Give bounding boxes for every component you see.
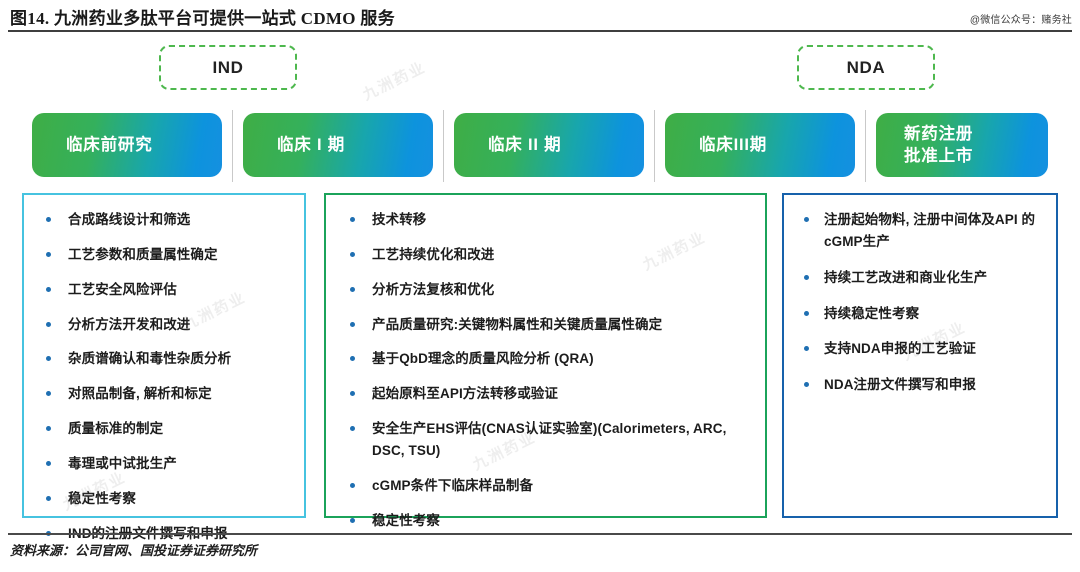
watermark-diagonal: 九洲药业: [359, 56, 429, 105]
milestone-label-nda: NDA: [847, 58, 886, 78]
content-list-preclinical: 合成路线设计和筛选 工艺参数和质量属性确定 工艺安全风险评估 分析方法开发和改进…: [24, 195, 304, 545]
phase-divider-4: [865, 110, 866, 182]
header-divider: [8, 30, 1072, 32]
list-item: 持续稳定性考察: [794, 303, 1048, 325]
list-item: 安全生产EHS评估(CNAS认证实验室)(Calorimeters, ARC, …: [336, 418, 757, 462]
list-item: 持续工艺改进和商业化生产: [794, 267, 1048, 289]
phase-label-phase2: 临床 II 期: [488, 134, 561, 156]
phase-label-preclinical: 临床前研究: [66, 134, 153, 156]
list-item: 杂质谱确认和毒性杂质分析: [34, 348, 296, 370]
phase-bar-phase2: 临床 II 期: [454, 113, 644, 177]
source-note: 资料来源：公司官网、国投证券证券研究所: [10, 540, 257, 559]
phase-label-nda-approval-line2: 批准上市: [904, 147, 973, 165]
phase-divider-1: [232, 110, 233, 182]
list-item: 稳定性考察: [336, 510, 757, 532]
list-item: 工艺安全风险评估: [34, 279, 296, 301]
content-list-registration: 注册起始物料, 注册中间体及API 的cGMP生产 持续工艺改进和商业化生产 持…: [784, 195, 1056, 396]
watermark-top-right: @微信公众号：赌务社: [970, 11, 1072, 26]
list-item: 工艺参数和质量属性确定: [34, 244, 296, 266]
milestone-pill-ind: IND: [159, 45, 297, 90]
content-list-clinical: 技术转移 工艺持续优化和改进 分析方法复核和优化 产品质量研究:关键物料属性和关…: [326, 195, 765, 532]
list-item: 对照品制备, 解析和标定: [34, 383, 296, 405]
milestone-label-ind: IND: [212, 58, 243, 78]
phase-divider-3: [654, 110, 655, 182]
phase-divider-2: [443, 110, 444, 182]
list-item: 分析方法开发和改进: [34, 314, 296, 336]
list-item: 起始原料至API方法转移或验证: [336, 383, 757, 405]
header: 图14. 九洲药业多肽平台可提供一站式 CDMO 服务 @微信公众号：赌务社: [0, 0, 1080, 32]
phase-bar-phase3: 临床III期: [665, 113, 855, 177]
footer-divider: [8, 533, 1072, 535]
phase-bar-nda-approval: 新药注册 批准上市: [876, 113, 1048, 177]
list-item: 基于QbD理念的质量风险分析 (QRA): [336, 348, 757, 370]
page-title: 图14. 九洲药业多肽平台可提供一站式 CDMO 服务: [10, 4, 395, 29]
list-item: 产品质量研究:关键物料属性和关键质量属性确定: [336, 314, 757, 336]
content-box-preclinical: 合成路线设计和筛选 工艺参数和质量属性确定 工艺安全风险评估 分析方法开发和改进…: [22, 193, 306, 518]
content-box-clinical: 技术转移 工艺持续优化和改进 分析方法复核和优化 产品质量研究:关键物料属性和关…: [324, 193, 767, 518]
phase-bar-row: 临床前研究 临床 I 期 临床 II 期 临床III期 新药注册 批准上市: [0, 113, 1080, 179]
list-item: cGMP条件下临床样品制备: [336, 475, 757, 497]
list-item: 分析方法复核和优化: [336, 279, 757, 301]
list-item: 稳定性考察: [34, 488, 296, 510]
phase-bar-phase1: 临床 I 期: [243, 113, 433, 177]
list-item: 质量标准的制定: [34, 418, 296, 440]
phase-label-phase1: 临床 I 期: [277, 134, 345, 156]
list-item: 毒理或中试批生产: [34, 453, 296, 475]
list-item: NDA注册文件撰写和申报: [794, 374, 1048, 396]
phase-label-phase3: 临床III期: [699, 134, 767, 156]
phase-bar-preclinical: 临床前研究: [32, 113, 222, 177]
list-item: 合成路线设计和筛选: [34, 209, 296, 231]
content-box-registration: 注册起始物料, 注册中间体及API 的cGMP生产 持续工艺改进和商业化生产 持…: [782, 193, 1058, 518]
list-item: 技术转移: [336, 209, 757, 231]
milestone-pill-nda: NDA: [797, 45, 935, 90]
list-item: 支持NDA申报的工艺验证: [794, 338, 1048, 360]
list-item: 注册起始物料, 注册中间体及API 的cGMP生产: [794, 209, 1048, 253]
phase-label-nda-approval: 新药注册 批准上市: [904, 123, 973, 168]
phase-label-nda-approval-line1: 新药注册: [904, 125, 973, 143]
list-item: 工艺持续优化和改进: [336, 244, 757, 266]
